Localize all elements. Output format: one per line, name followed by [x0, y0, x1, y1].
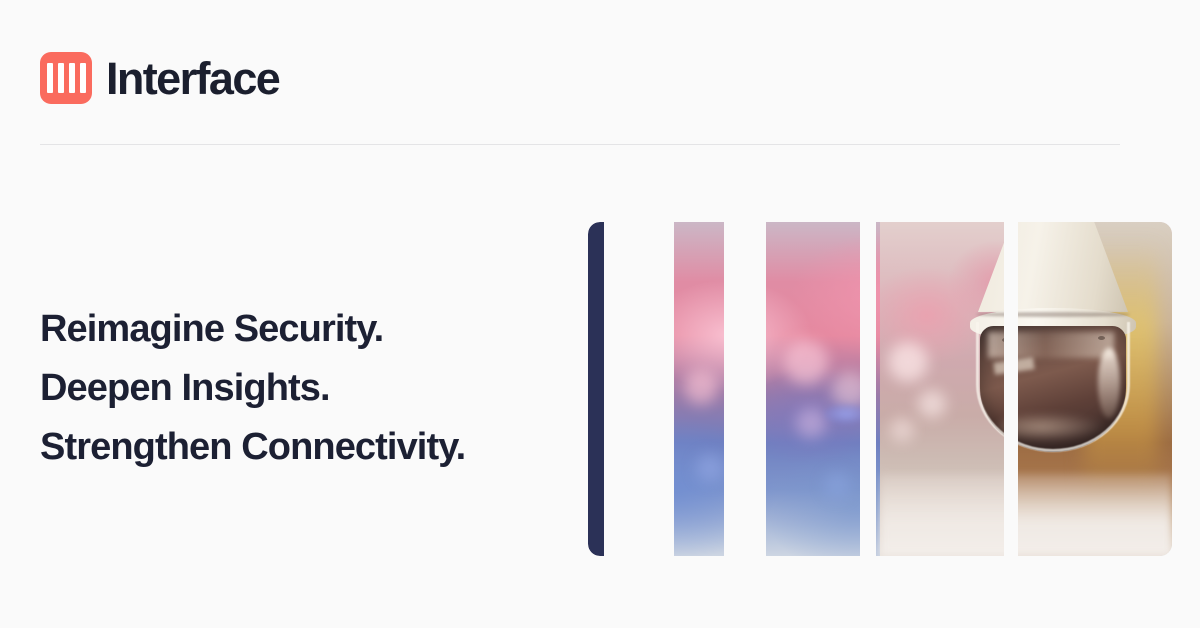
headline-line-2: Deepen Insights.: [40, 359, 600, 418]
photo-slice-4: [1018, 222, 1172, 556]
page-title: Reimagine Security. Deepen Insights. Str…: [40, 300, 600, 477]
hero-banner: Interface Reimagine Security. Deepen Ins…: [0, 0, 1200, 628]
header-divider: [40, 144, 1120, 145]
logo-bar-2: [58, 63, 64, 93]
headline-line-1: Reimagine Security.: [40, 300, 600, 359]
interface-bars-logo-icon: [40, 52, 92, 104]
logo-bar-3: [69, 63, 75, 93]
hero-image: [588, 222, 1172, 556]
logo-bar-1: [47, 63, 53, 93]
navy-accent-stripe: [588, 222, 604, 556]
photo-slice-3: [876, 222, 1004, 556]
logo-bar-4: [80, 63, 86, 93]
photo-slice-2: [766, 222, 860, 556]
photo-slice-1: [674, 222, 724, 556]
brand-wordmark: Interface: [106, 56, 279, 101]
brand-header: Interface: [40, 52, 279, 104]
headline-line-3: Strengthen Connectivity.: [40, 418, 600, 477]
